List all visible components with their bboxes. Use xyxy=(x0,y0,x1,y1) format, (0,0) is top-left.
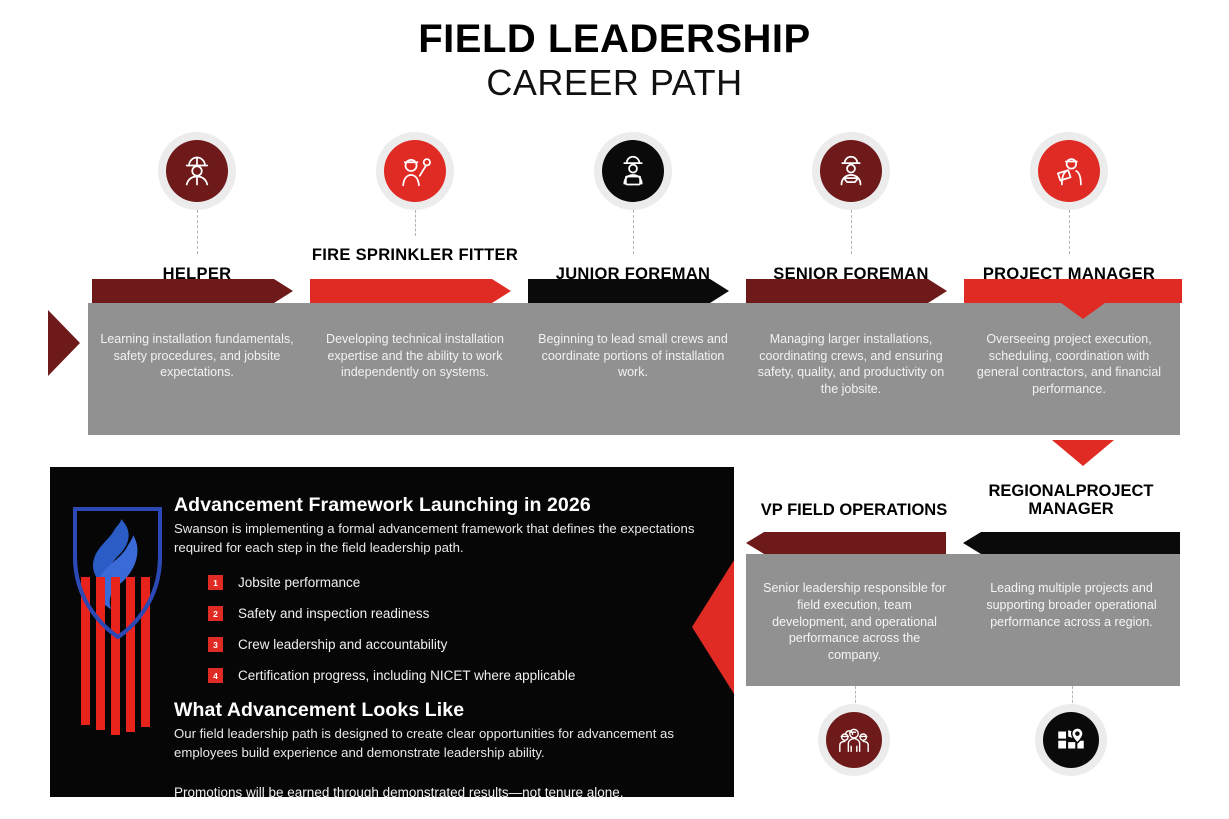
role-description: Overseeing project execution, scheduling… xyxy=(960,331,1178,397)
red-notch-icon xyxy=(1061,303,1105,319)
bullet-number-badge: 4 xyxy=(208,668,223,683)
role-description: Learning installation fundamentals, safe… xyxy=(88,331,306,381)
path-down-arrow-icon xyxy=(1052,440,1114,466)
bullet-text: Jobsite performance xyxy=(238,575,360,590)
panel-paragraph-3: Promotions will be earned through demons… xyxy=(174,785,719,797)
connector-line xyxy=(1069,210,1070,254)
role-title: FIRE SPRINKLER FITTER xyxy=(295,246,535,264)
panel-paragraph-1: Swanson is implementing a formal advance… xyxy=(174,520,719,557)
role-description: Beginning to lead small crews and coordi… xyxy=(524,331,742,381)
connector-line xyxy=(855,686,856,712)
role-description: Developing technical installation expert… xyxy=(306,331,524,381)
progress-arrow-project-manager xyxy=(964,279,1164,303)
list-item: 1 Jobsite performance xyxy=(208,575,719,590)
team-group-icon xyxy=(826,712,882,768)
bullet-text: Certification progress, including NICET … xyxy=(238,668,575,683)
role-description: Managing larger installations, coordinat… xyxy=(742,331,960,397)
panel-paragraph-2: Our field leadership path is designed to… xyxy=(174,725,719,762)
swanson-shield-flame-logo xyxy=(65,497,170,757)
bullet-number-badge: 1 xyxy=(208,575,223,590)
progress-arrow-regional-project-manager xyxy=(963,532,1180,554)
list-item: 2 Safety and inspection readiness xyxy=(208,606,719,621)
bullet-text: Crew leadership and accountability xyxy=(238,637,447,652)
list-item: 4 Certification progress, including NICE… xyxy=(208,668,719,683)
list-item: 3 Crew leadership and accountability xyxy=(208,637,719,652)
connector-line xyxy=(197,210,198,254)
connector-line xyxy=(1072,686,1073,712)
manager-plans-icon xyxy=(1038,140,1100,202)
role-description: Senior leadership responsible for field … xyxy=(746,580,963,664)
progress-arrow-junior-foreman xyxy=(528,279,728,303)
role-description: Leading multiple projects and supporting… xyxy=(963,580,1180,630)
hardhat-worker-icon xyxy=(166,140,228,202)
map-pin-icon xyxy=(1043,712,1099,768)
worker-with-wrench-icon xyxy=(384,140,446,202)
foreman-clipboard-icon xyxy=(602,140,664,202)
path-start-pointer-icon xyxy=(48,310,80,376)
progress-arrow-fitter xyxy=(310,279,510,303)
page-title: FIELD LEADERSHIP CAREER PATH xyxy=(0,18,1229,103)
connector-line xyxy=(415,210,416,236)
panel-heading-1: Advancement Framework Launching in 2026 xyxy=(174,494,719,517)
bullet-text: Safety and inspection readiness xyxy=(238,606,429,621)
bullet-number-badge: 3 xyxy=(208,637,223,652)
progress-arrow-senior-foreman xyxy=(746,279,946,303)
role-title: VP FIELD OPERATIONS xyxy=(729,501,979,519)
progress-arrow-vp-field-operations xyxy=(746,532,946,554)
advancement-criteria-list: 1 Jobsite performance 2 Safety and inspe… xyxy=(174,575,719,683)
panel-heading-2: What Advancement Looks Like xyxy=(174,699,719,722)
title-line-2: CAREER PATH xyxy=(0,62,1229,103)
title-line-1: FIELD LEADERSHIP xyxy=(0,18,1229,60)
connector-line xyxy=(633,210,634,254)
bullet-number-badge: 2 xyxy=(208,606,223,621)
role-title: REGIONALPROJECT MANAGER xyxy=(946,482,1196,519)
advancement-framework-panel: Advancement Framework Launching in 2026 … xyxy=(50,467,734,797)
senior-foreman-icon xyxy=(820,140,882,202)
progress-arrow-helper xyxy=(92,279,292,303)
connector-line xyxy=(851,210,852,254)
